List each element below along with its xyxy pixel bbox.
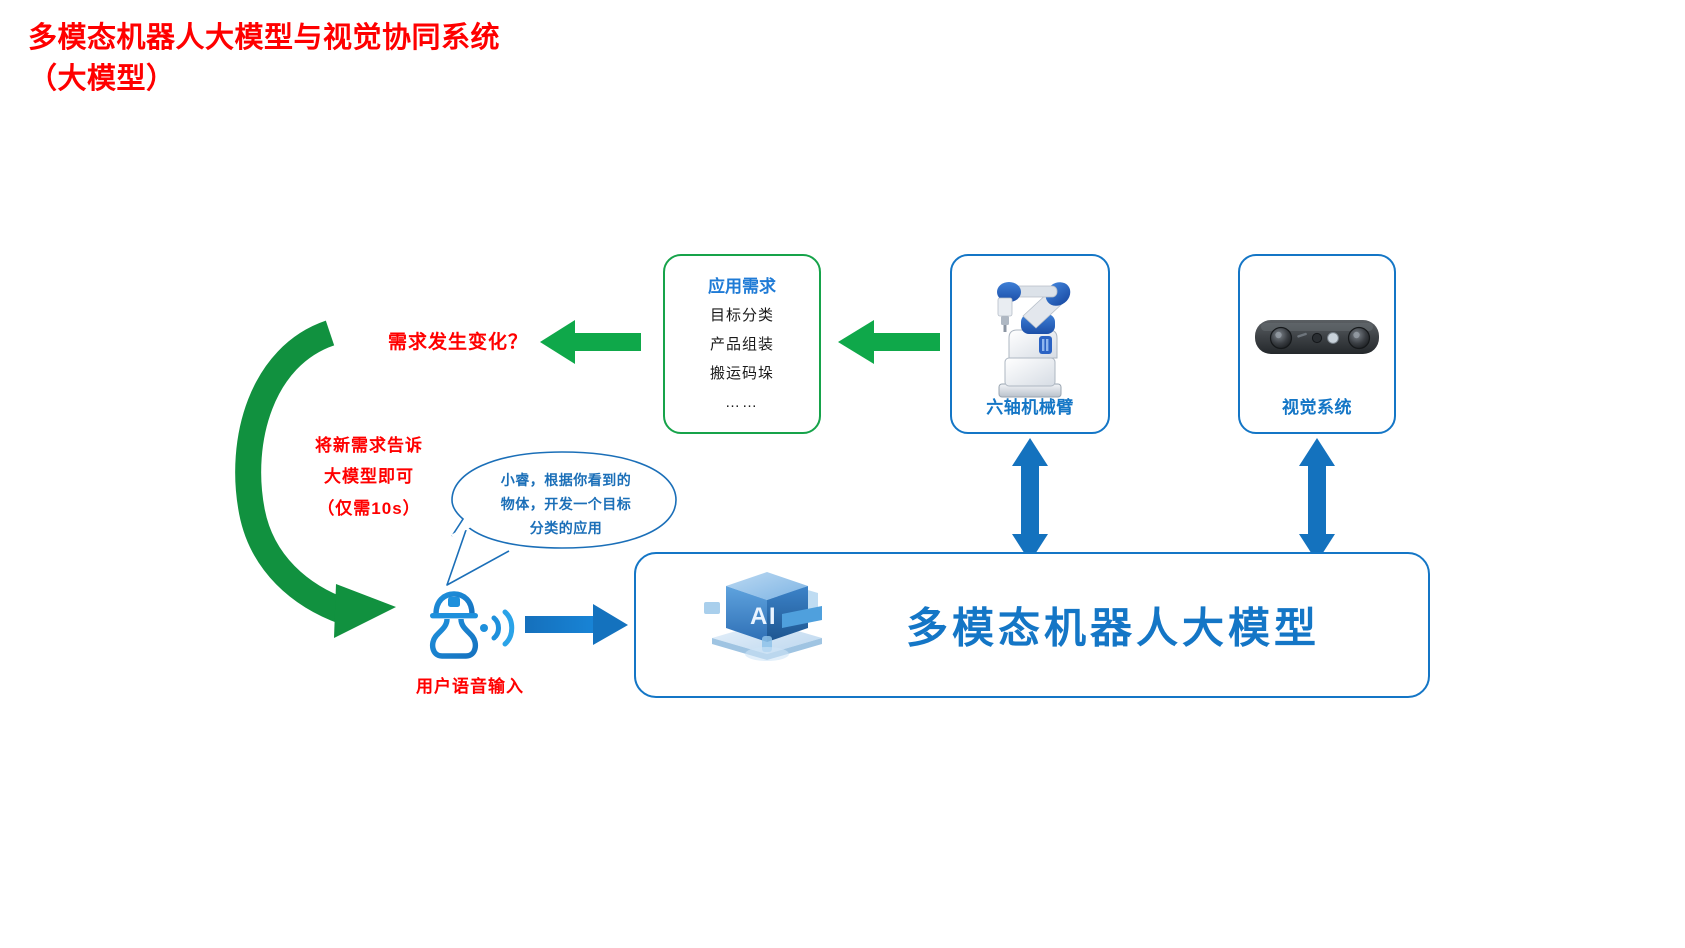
- arrow-layer: [0, 0, 1685, 948]
- ai-cube-chip-icon: AI: [698, 562, 836, 688]
- diagram-canvas: 多模态机器人大模型与视觉协同系统 （大模型）: [0, 0, 1685, 948]
- user-voice-icon: [416, 588, 520, 660]
- list-item: 产品组装: [665, 337, 819, 352]
- robot-arm-label: 六轴机械臂: [952, 393, 1108, 418]
- green-arrow-arm-to-requirements: [838, 320, 940, 364]
- list-item: 目标分类: [665, 308, 819, 323]
- depth-camera-icon: [1251, 308, 1383, 368]
- tell-model-text: 将新需求告诉 大模型即可 （仅需10s）: [278, 430, 460, 524]
- speech-bubble-text: 小睿，根据你看到的 物体，开发一个目标 分类的应用: [468, 468, 664, 540]
- blue-double-arrow-arm: [1012, 438, 1048, 562]
- list-item: 搬运码垛: [665, 366, 819, 381]
- requirements-title: 应用需求: [665, 272, 819, 297]
- multimodal-model-title: 多模态机器人大模型: [906, 595, 1320, 656]
- requirement-changed-text: 需求发生变化？: [388, 327, 528, 354]
- requirements-card[interactable]: 应用需求 目标分类 产品组装 搬运码垛 ……: [663, 254, 821, 434]
- green-arrow-to-change-question: [540, 320, 641, 364]
- six-axis-robot-arm-icon: [965, 264, 1095, 404]
- list-item-ellipsis: ……: [665, 395, 819, 410]
- blue-arrow-user-to-model: [525, 604, 628, 645]
- speech-bubble[interactable]: 小睿，根据你看到的 物体，开发一个目标 分类的应用: [446, 446, 678, 586]
- vision-system-label: 视觉系统: [1240, 393, 1394, 418]
- page-title: 多模态机器人大模型与视觉协同系统 （大模型）: [28, 18, 928, 99]
- svg-text:AI: AI: [750, 603, 777, 630]
- robot-arm-card[interactable]: 六轴机械臂: [950, 254, 1110, 434]
- multimodal-model-card[interactable]: AI 多模态机器人大模型: [634, 552, 1430, 698]
- blue-double-arrow-vision: [1299, 438, 1335, 562]
- vision-system-card[interactable]: 视觉系统: [1238, 254, 1396, 434]
- voice-input-label: 用户语音输入: [390, 672, 550, 697]
- requirements-list: 目标分类 产品组装 搬运码垛 ……: [665, 308, 819, 424]
